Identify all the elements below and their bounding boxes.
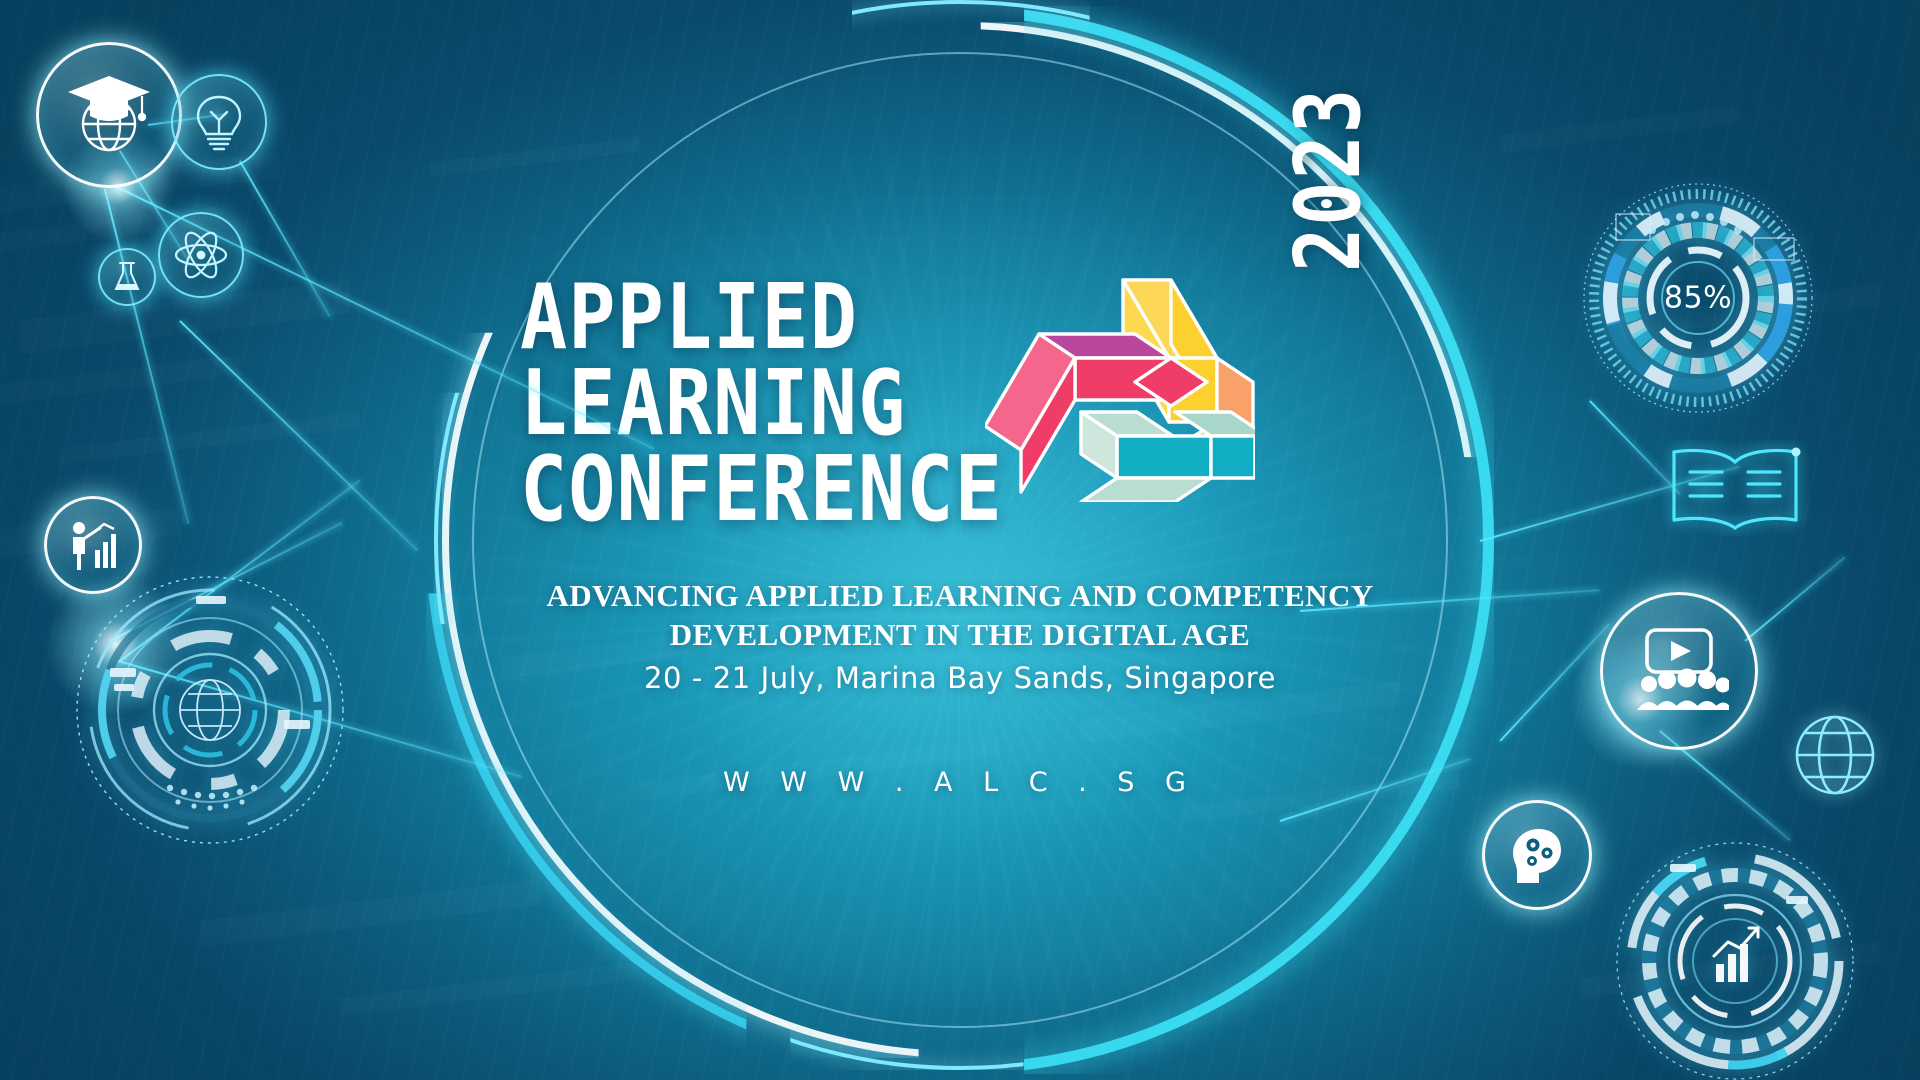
icon-globe[interactable]	[1780, 700, 1890, 815]
video-audience-icon	[1629, 628, 1729, 714]
atom-icon	[173, 227, 229, 283]
graduation-cap-globe-icon	[62, 68, 156, 162]
conference-year: 2023	[1275, 87, 1380, 272]
globe-icon	[1780, 700, 1890, 810]
hud-chart-dial	[1610, 836, 1860, 1080]
hud-chart-wheel	[1610, 836, 1860, 1080]
brain-gears-icon	[1505, 823, 1569, 887]
hud-globe-dial	[70, 570, 350, 850]
icon-lightbulb[interactable]	[171, 74, 267, 170]
alc-logo	[985, 272, 1255, 502]
lightbulb-icon	[192, 93, 246, 151]
icon-atom[interactable]	[158, 212, 244, 298]
conference-banner: APPLIED LEARNING CONFERENCE	[0, 0, 1920, 1080]
icon-open-book[interactable]	[1660, 440, 1810, 541]
presenter-chart-icon	[64, 516, 122, 574]
hud-globe-wheel	[70, 570, 350, 850]
icon-flask[interactable]	[98, 248, 156, 306]
title-line-3: CONFERENCE	[520, 448, 997, 532]
icon-graduation-globe[interactable]	[36, 42, 182, 188]
open-book-icon	[1660, 440, 1810, 536]
hud-percentage-gauge: 85%	[1578, 178, 1818, 418]
conference-title: APPLIED LEARNING CONFERENCE	[520, 276, 970, 533]
icon-webinar[interactable]	[1600, 592, 1758, 750]
flask-icon	[112, 260, 142, 294]
title-line-1: APPLIED	[520, 276, 997, 360]
logo-impossible-triangle	[985, 272, 1255, 502]
title-line-2: LEARNING	[520, 362, 997, 446]
hud-gauge-value: 85%	[1578, 281, 1818, 316]
icon-brain-gears[interactable]	[1482, 800, 1592, 910]
